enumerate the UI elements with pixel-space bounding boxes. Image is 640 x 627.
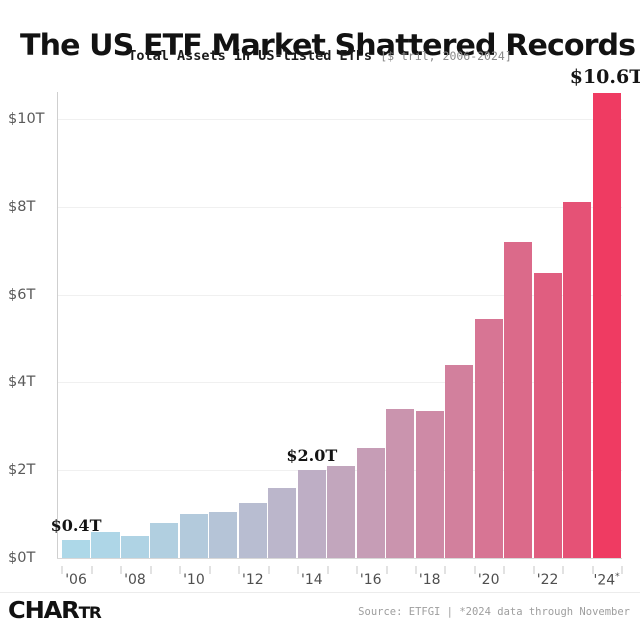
x-axis-tick bbox=[415, 566, 417, 574]
x-axis-label-2024: '24* bbox=[593, 572, 619, 589]
bar-value-label-2006: $0.4T bbox=[16, 516, 136, 535]
bar-2012[interactable] bbox=[239, 503, 267, 558]
bar-2008[interactable] bbox=[121, 536, 149, 558]
bar-2017[interactable] bbox=[386, 409, 414, 558]
chartr-logo: CHARTR bbox=[8, 598, 101, 624]
bar-2018[interactable] bbox=[416, 411, 444, 558]
x-axis-tick bbox=[533, 566, 535, 574]
bar-2009[interactable] bbox=[150, 523, 178, 558]
x-axis-tick bbox=[61, 566, 63, 574]
bar-2015[interactable] bbox=[327, 466, 355, 558]
x-axis-label-2008: '08 bbox=[124, 572, 146, 588]
x-axis-tick bbox=[327, 566, 329, 574]
bar-2020[interactable] bbox=[475, 319, 503, 558]
x-axis-label-2010: '10 bbox=[183, 572, 205, 588]
bar-2013[interactable] bbox=[268, 488, 296, 558]
x-axis-tick bbox=[444, 566, 446, 574]
x-axis-tick bbox=[386, 566, 388, 574]
bar-value-label-2024: $10.6T bbox=[547, 66, 640, 88]
x-axis-tick bbox=[268, 566, 270, 574]
bar-2007[interactable] bbox=[91, 532, 119, 558]
logo-main: CHAR bbox=[8, 598, 79, 624]
bar-2006[interactable] bbox=[62, 540, 90, 558]
logo-small: TR bbox=[79, 603, 101, 622]
x-axis-tick bbox=[120, 566, 122, 574]
bar-2014[interactable] bbox=[298, 470, 326, 558]
x-axis-label-footnote-marker: * bbox=[615, 572, 620, 582]
x-axis-tick bbox=[474, 566, 476, 574]
bar-2024[interactable] bbox=[593, 93, 621, 558]
x-axis-tick bbox=[209, 566, 211, 574]
x-axis-tick bbox=[503, 566, 505, 574]
source-note: Source: ETFGI | *2024 data through Novem… bbox=[358, 606, 630, 618]
x-axis-tick bbox=[91, 566, 93, 574]
x-axis-label-2016: '16 bbox=[360, 572, 382, 588]
x-axis-tick bbox=[562, 566, 564, 574]
bar-2021[interactable] bbox=[504, 242, 532, 558]
bar-2019[interactable] bbox=[445, 365, 473, 558]
bar-2022[interactable] bbox=[534, 273, 562, 558]
bar-2011[interactable] bbox=[209, 512, 237, 558]
x-axis-tick bbox=[356, 566, 358, 574]
bar-2010[interactable] bbox=[180, 514, 208, 558]
x-axis-label-2020: '20 bbox=[478, 572, 500, 588]
x-axis-tick bbox=[238, 566, 240, 574]
x-axis-label-2018: '18 bbox=[419, 572, 441, 588]
bar-value-label-2014: $2.0T bbox=[252, 446, 372, 465]
bar-2023[interactable] bbox=[563, 202, 591, 558]
x-axis-tick bbox=[150, 566, 152, 574]
x-axis-tick bbox=[179, 566, 181, 574]
x-axis-label-2022: '22 bbox=[537, 572, 559, 588]
x-axis-label-2006: '06 bbox=[65, 572, 87, 588]
chart-page: The US ETF Market Shattered Records In '… bbox=[0, 0, 640, 627]
footer-divider bbox=[0, 592, 640, 593]
x-axis-tick bbox=[297, 566, 299, 574]
x-axis-tick bbox=[621, 566, 623, 574]
x-axis-label-2012: '12 bbox=[242, 572, 264, 588]
x-axis-label-2014: '14 bbox=[301, 572, 323, 588]
